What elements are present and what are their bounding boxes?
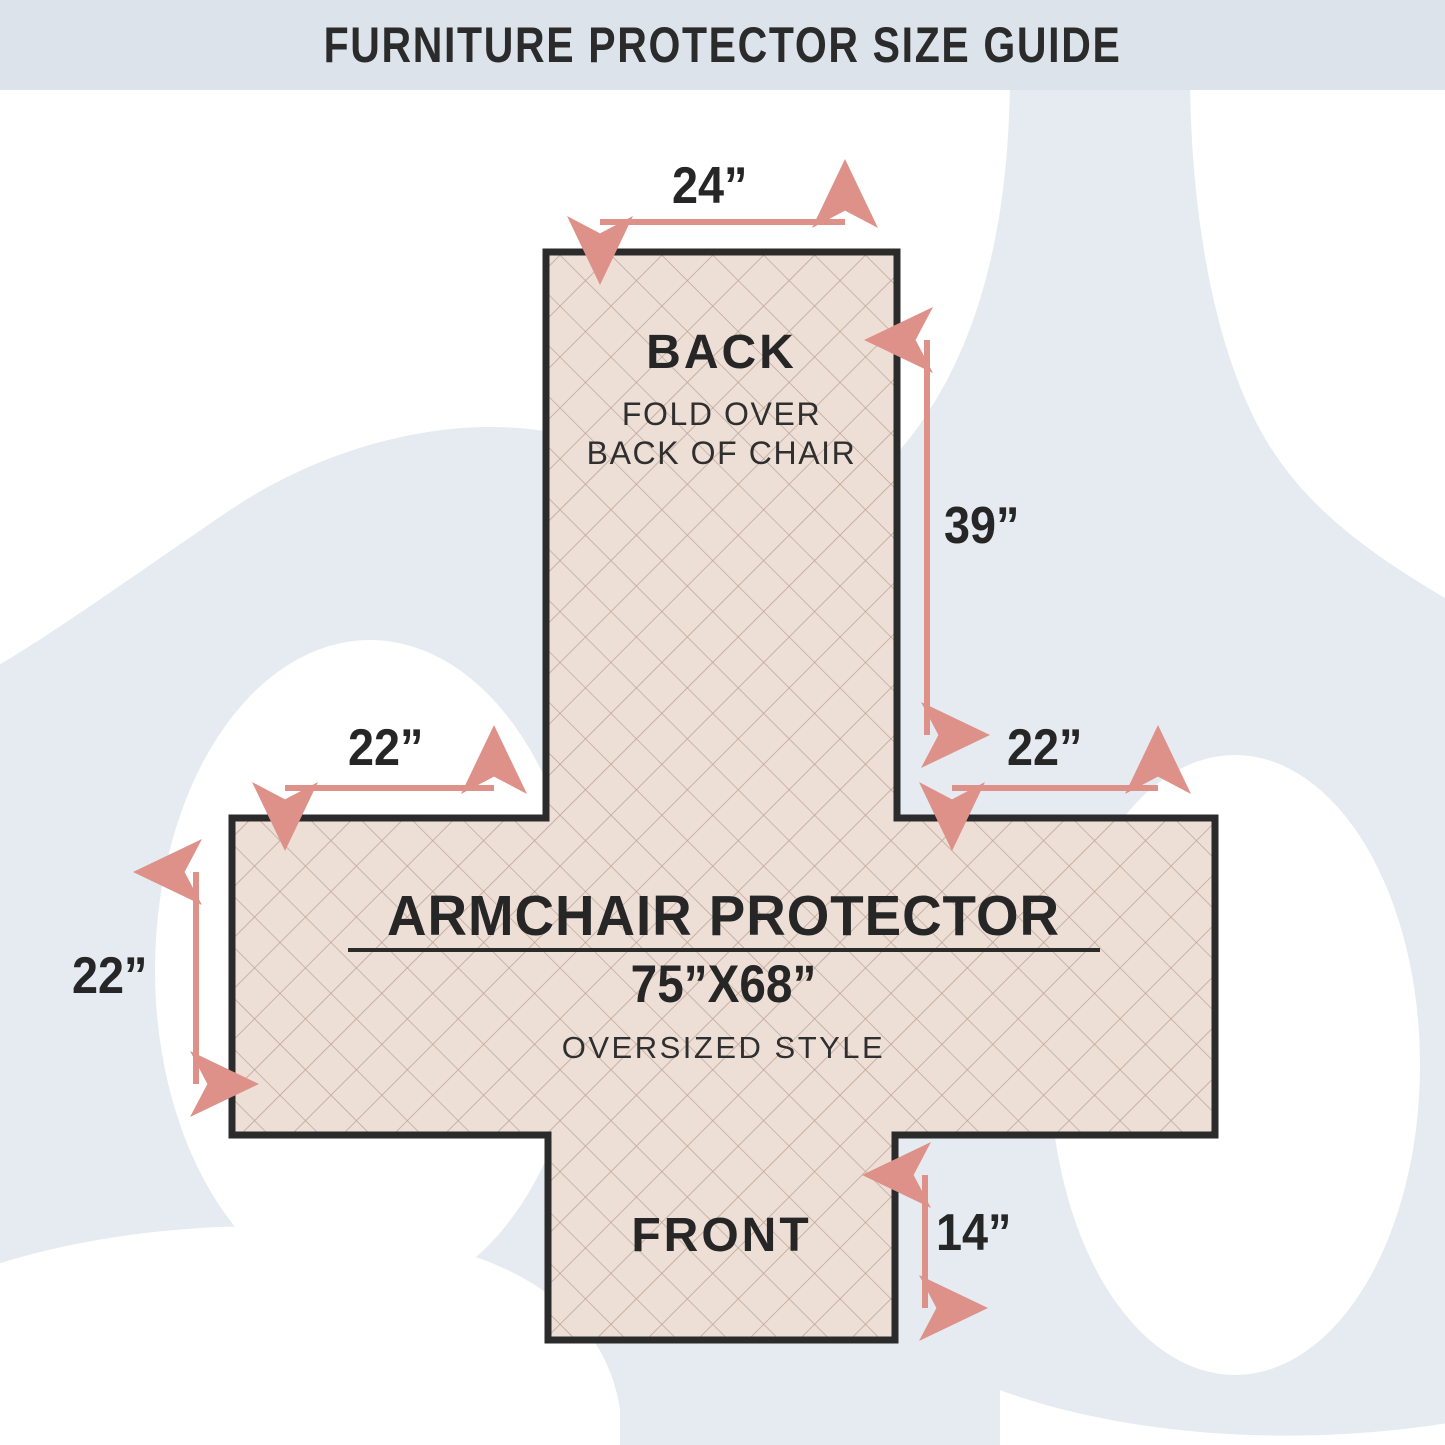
- dimension-back-length: 39”: [944, 500, 1019, 552]
- product-style: OVERSIZED STYLE: [232, 1032, 1215, 1063]
- dimension-right-arm-width: 22”: [1007, 722, 1082, 774]
- back-panel-label: BACK: [546, 329, 897, 377]
- dimension-front-drop: 14”: [936, 1207, 1011, 1259]
- back-panel-note-line-1: FOLD OVER: [546, 398, 897, 430]
- size-guide-page: FURNITURE PROTECTOR SIZE GUIDE BACK FOLD…: [0, 0, 1445, 1445]
- product-name: ARMCHAIR PROTECTOR: [252, 888, 1196, 945]
- back-panel-note-line-2: BACK OF CHAIR: [546, 437, 897, 469]
- dimension-arm-depth: 22”: [72, 950, 147, 1002]
- page-title: FURNITURE PROTECTOR SIZE GUIDE: [324, 20, 1122, 70]
- front-panel-label: FRONT: [548, 1212, 895, 1260]
- dimension-left-arm-width: 22”: [348, 722, 423, 774]
- header-bar: FURNITURE PROTECTOR SIZE GUIDE: [0, 0, 1445, 90]
- product-name-underline: [348, 948, 1100, 952]
- dimension-back-width: 24”: [672, 160, 747, 212]
- product-size: 75”X68”: [281, 958, 1166, 1011]
